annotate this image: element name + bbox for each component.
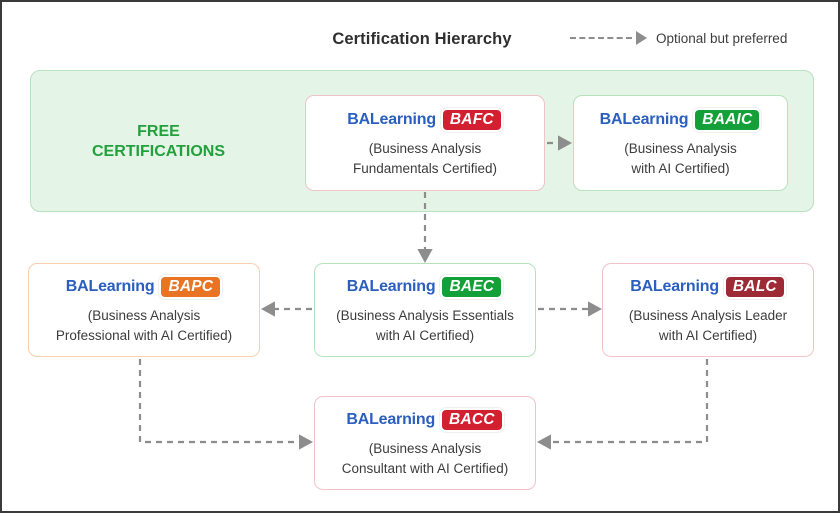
legend-label: Optional but preferred — [656, 31, 787, 46]
card-bacc-description: (Business Analysis Consultant with AI Ce… — [342, 439, 509, 478]
brand-wordmark: BALearning — [347, 278, 436, 296]
free-label-line2: CERTIFICATIONS — [36, 142, 281, 162]
connector-bapc-to-bacc — [140, 359, 302, 442]
legend-dashed-line — [570, 37, 632, 39]
connector-balc-to-bacc — [548, 359, 707, 442]
card-baec[interactable]: BALearning BAEC (Business Analysis Essen… — [314, 263, 536, 357]
diagram-canvas: Certification Hierarchy Optional but pre… — [0, 0, 840, 513]
card-baaic-desc-line2: with AI Certified) — [624, 159, 737, 179]
logo-baec: BALearning BAEC — [347, 275, 503, 299]
card-balc-desc-line1: (Business Analysis Leader — [629, 306, 787, 326]
card-baec-desc-line2: with AI Certified) — [336, 326, 514, 346]
legend: Optional but preferred — [570, 26, 787, 50]
badge-bacc: BACC — [440, 408, 504, 432]
badge-bafc: BAFC — [441, 108, 503, 132]
logo-bafc: BALearning BAFC — [347, 108, 503, 132]
card-balc-description: (Business Analysis Leader with AI Certif… — [629, 306, 787, 345]
card-bafc-desc-line2: Fundamentals Certified) — [353, 159, 497, 179]
brand-wordmark: BALearning — [347, 111, 436, 129]
card-balc-desc-line2: with AI Certified) — [629, 326, 787, 346]
card-baaic[interactable]: BALearning BAAIC (Business Analysis with… — [573, 95, 788, 191]
card-bapc-desc-line2: Professional with AI Certified) — [56, 326, 232, 346]
card-bacc[interactable]: BALearning BACC (Business Analysis Consu… — [314, 396, 536, 490]
card-baec-description: (Business Analysis Essentials with AI Ce… — [336, 306, 514, 345]
free-certifications-label: FREE CERTIFICATIONS — [36, 122, 281, 162]
brand-wordmark: BALearning — [66, 278, 155, 296]
logo-bacc: BALearning BACC — [346, 408, 503, 432]
card-baaic-description: (Business Analysis with AI Certified) — [624, 139, 737, 178]
card-bafc-desc-line1: (Business Analysis — [353, 139, 497, 159]
card-bacc-desc-line1: (Business Analysis — [342, 439, 509, 459]
card-baaic-desc-line1: (Business Analysis — [624, 139, 737, 159]
badge-baaic: BAAIC — [693, 108, 761, 132]
badge-bapc: BAPC — [159, 275, 222, 299]
badge-balc: BALC — [724, 275, 786, 299]
card-bacc-desc-line2: Consultant with AI Certified) — [342, 459, 509, 479]
logo-baaic: BALearning BAAIC — [600, 108, 762, 132]
brand-wordmark: BALearning — [346, 411, 435, 429]
card-bapc-description: (Business Analysis Professional with AI … — [56, 306, 232, 345]
card-bafc-description: (Business Analysis Fundamentals Certifie… — [353, 139, 497, 178]
card-bapc[interactable]: BALearning BAPC (Business Analysis Profe… — [28, 263, 260, 357]
card-baec-desc-line1: (Business Analysis Essentials — [336, 306, 514, 326]
logo-bapc: BALearning BAPC — [66, 275, 222, 299]
free-label-line1: FREE — [36, 122, 281, 142]
card-bafc[interactable]: BALearning BAFC (Business Analysis Funda… — [305, 95, 545, 191]
brand-wordmark: BALearning — [600, 111, 689, 129]
badge-baec: BAEC — [440, 275, 503, 299]
logo-balc: BALearning BALC — [630, 275, 786, 299]
legend-arrow-icon — [636, 31, 647, 45]
card-bapc-desc-line1: (Business Analysis — [56, 306, 232, 326]
page-title: Certification Hierarchy — [332, 30, 511, 49]
card-balc[interactable]: BALearning BALC (Business Analysis Leade… — [602, 263, 814, 357]
brand-wordmark: BALearning — [630, 278, 719, 296]
